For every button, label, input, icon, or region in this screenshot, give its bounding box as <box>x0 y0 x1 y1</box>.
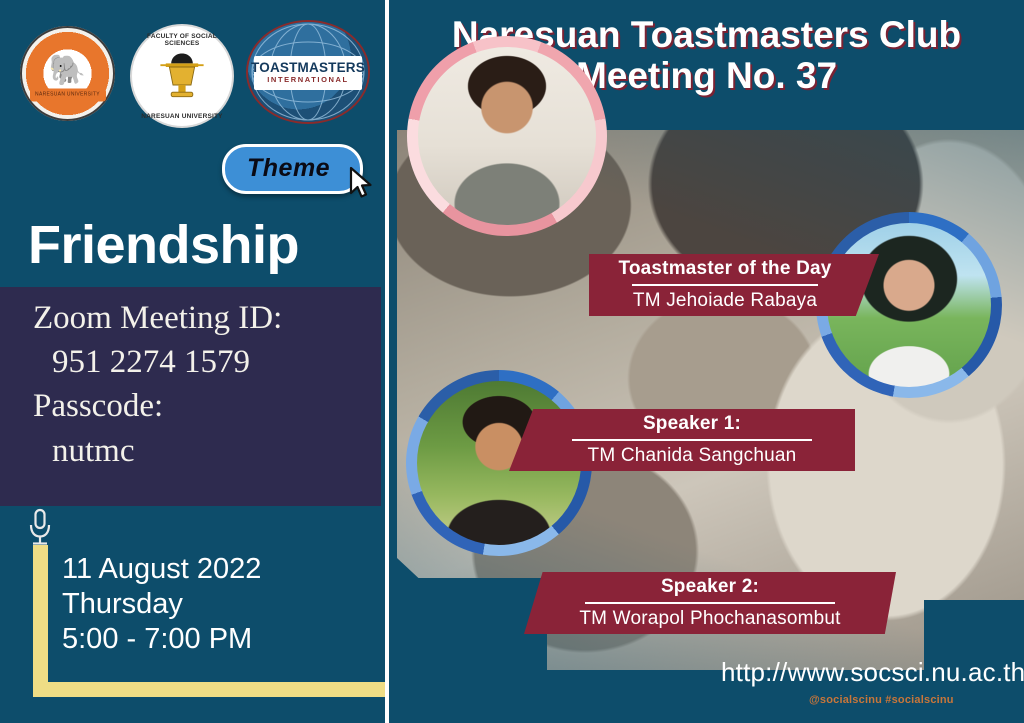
mouse-cursor-icon <box>348 166 374 200</box>
role-label-speaker-2: Speaker 2: <box>661 576 759 598</box>
naresuan-university-seal-icon: 🐘 NARESUAN UNIVERSITY <box>20 26 115 121</box>
schedule-block: 11 August 2022 Thursday 5:00 - 7:00 PM <box>62 552 261 656</box>
schedule-time: 5:00 - 7:00 PM <box>62 622 261 657</box>
faculty-of-social-sciences-seal-icon: FACULTY OF SOCIAL SCIENCES NARESUAN UNIV… <box>130 24 234 128</box>
international-word: INTERNATIONAL <box>267 74 349 85</box>
oil-lamp-icon <box>155 49 209 103</box>
banner-divider <box>585 602 835 604</box>
zoom-passcode-label: Passcode: <box>0 384 381 428</box>
elephant-icon: 🐘 <box>49 56 86 86</box>
vertical-divider <box>385 0 389 723</box>
avatar-toastmaster <box>407 36 607 236</box>
toastmasters-word: TOASTMASTERS <box>251 61 365 75</box>
left-panel: 🐘 NARESUAN UNIVERSITY FACULTY OF SOCIAL … <box>0 0 389 723</box>
seal-ribbon-label: NARESUAN UNIVERSITY <box>30 89 106 102</box>
banner-divider <box>632 284 818 286</box>
schedule-date: 11 August 2022 <box>62 552 261 587</box>
photo-corner-notch-bottom-left <box>397 578 547 670</box>
schedule-day: Thursday <box>62 587 261 622</box>
right-panel: Naresuan Toastmasters Club Meeting No. 3… <box>389 0 1024 723</box>
website-url[interactable]: http://www.socsci.nu.ac.th <box>721 657 1024 688</box>
microphone-icon <box>26 508 54 548</box>
photo-corner-notch-left <box>397 558 517 670</box>
toastmasters-international-logo-icon: TOASTMASTERS INTERNATIONAL <box>248 22 368 122</box>
banner-divider <box>572 439 812 441</box>
role-label-toastmaster: Toastmaster of the Day <box>618 258 831 280</box>
logo-row: 🐘 NARESUAN UNIVERSITY FACULTY OF SOCIAL … <box>0 10 389 120</box>
person-name-speaker-1: TM Chanida Sangchuan <box>588 445 797 467</box>
toastmasters-wordmark: TOASTMASTERS INTERNATIONAL <box>254 56 362 90</box>
theme-value: Friendship <box>28 218 299 272</box>
social-handles: @socialscinu #socialscinu <box>809 694 954 706</box>
poster-canvas: 🐘 NARESUAN UNIVERSITY FACULTY OF SOCIAL … <box>0 0 1024 723</box>
avatar-photo-toastmaster <box>418 47 596 225</box>
yellow-accent-vertical-bar <box>33 545 48 697</box>
name-banner-speaker-1: Speaker 1: TM Chanida Sangchuan <box>509 409 855 471</box>
seal-ring-top-label: FACULTY OF SOCIAL SCIENCES <box>132 33 232 47</box>
person-name-toastmaster: TM Jehoiade Rabaya <box>633 290 817 312</box>
zoom-meeting-id-label: Zoom Meeting ID: <box>0 296 381 340</box>
role-label-speaker-1: Speaker 1: <box>643 413 741 435</box>
theme-badge[interactable]: Theme <box>222 144 363 194</box>
zoom-passcode-value: nutmc <box>0 429 381 473</box>
zoom-info-block: Zoom Meeting ID: 951 2274 1579 Passcode:… <box>0 296 381 473</box>
seal-ring-bottom-label: NARESUAN UNIVERSITY <box>132 113 232 120</box>
name-banner-toastmaster: Toastmaster of the Day TM Jehoiade Rabay… <box>589 254 879 316</box>
person-name-speaker-2: TM Worapol Phochanasombut <box>579 608 840 630</box>
name-banner-speaker-2: Speaker 2: TM Worapol Phochanasombut <box>524 572 896 634</box>
zoom-meeting-id-value: 951 2274 1579 <box>0 340 381 384</box>
